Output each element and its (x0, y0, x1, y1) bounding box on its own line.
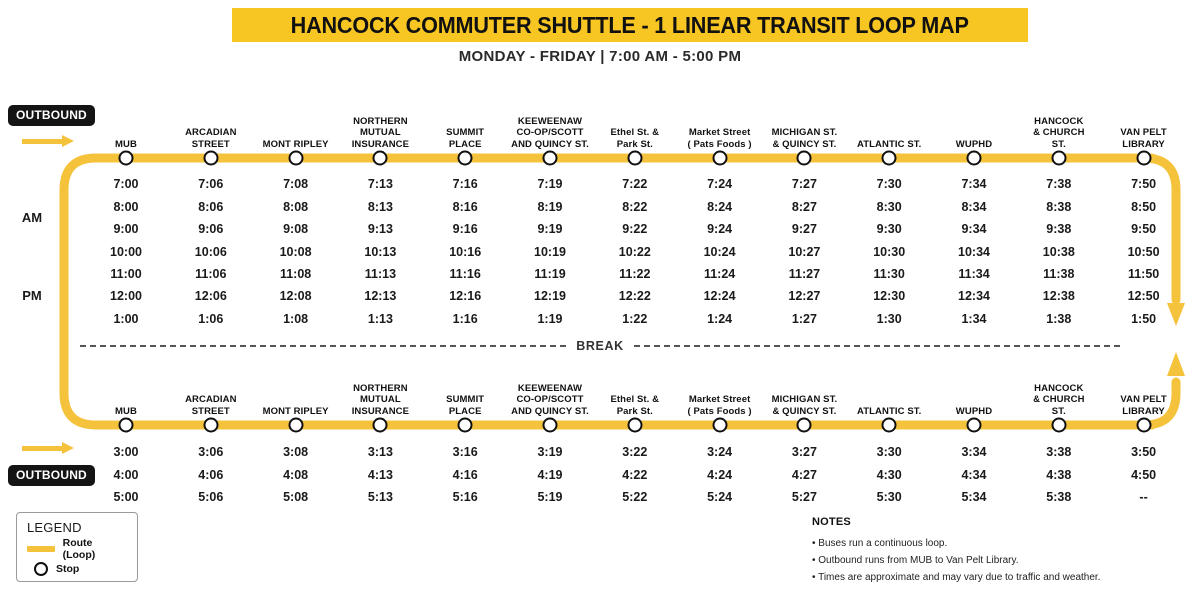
service-hours-subtitle: MONDAY - FRIDAY | 7:00 AM - 5:00 PM (0, 48, 1200, 65)
schedule-time-cell: 11:34 (958, 267, 989, 281)
schedule-time-cell: 5:06 (198, 490, 223, 504)
schedule-time-cell: 10:50 (1128, 245, 1160, 259)
schedule-time-cell: 9:13 (368, 222, 393, 236)
stop-marker[interactable] (1136, 418, 1151, 433)
schedule-time-cell: 8:38 (1046, 200, 1071, 214)
schedule-time-cell: 3:13 (368, 445, 393, 459)
schedule-time-cell: 7:27 (792, 177, 817, 191)
schedule-time-cell: 7:30 (877, 177, 902, 191)
break-line-left (80, 345, 566, 347)
schedule-time-cell: 5:08 (283, 490, 308, 504)
schedule-time-cell: 12:38 (1043, 289, 1075, 303)
schedule-time-cell: 1:38 (1046, 312, 1071, 326)
arrow-right-icon-bottom (22, 443, 76, 453)
schedule-time-cell: 7:13 (368, 177, 393, 191)
schedule-time-cell: 12:27 (788, 289, 820, 303)
schedule-time-cell: 8:16 (453, 200, 478, 214)
stop-marker[interactable] (967, 151, 982, 166)
stop-marker[interactable] (119, 418, 134, 433)
schedule-time-cell: 1:50 (1131, 312, 1156, 326)
schedule-time-cell: 3:34 (961, 445, 986, 459)
stop-marker[interactable] (712, 151, 727, 166)
schedule-time-cell: 12:24 (704, 289, 736, 303)
schedule-time-cell: 5:22 (622, 490, 647, 504)
schedule-time-cell: 8:27 (792, 200, 817, 214)
schedule-time-cell: 10:13 (364, 245, 396, 259)
schedule-time-cell: 9:08 (283, 222, 308, 236)
schedule-time-cell: 5:13 (368, 490, 393, 504)
notes-block: NOTES • Buses run a continuous loop.• Ou… (812, 516, 1192, 586)
schedule-time-cell: 12:34 (958, 289, 990, 303)
schedule-time-cell: 9:50 (1131, 222, 1156, 236)
schedule-time-cell: 9:22 (622, 222, 647, 236)
schedule-time-cell: 5:16 (453, 490, 478, 504)
schedule-time-cell: 8:08 (283, 200, 308, 214)
stop-marker[interactable] (543, 418, 558, 433)
schedule-time-cell: 11:22 (619, 267, 650, 281)
route-loop-graphic (0, 0, 1200, 600)
stop-marker[interactable] (203, 151, 218, 166)
stop-marker[interactable] (1051, 151, 1066, 166)
schedule-time-cell: 3:00 (113, 445, 138, 459)
stop-marker[interactable] (203, 418, 218, 433)
schedule-time-cell: 11:16 (450, 267, 481, 281)
shuttle-map-page: HANCOCK COMMUTER SHUTTLE - 1 LINEAR TRAN… (0, 0, 1200, 600)
stop-marker[interactable] (967, 418, 982, 433)
schedule-time-cell: 1:13 (368, 312, 393, 326)
stop-circle-icon (34, 562, 48, 576)
schedule-time-cell: 9:19 (537, 222, 562, 236)
schedule-time-cell: 9:00 (113, 222, 138, 236)
schedule-time-cell: 8:50 (1131, 200, 1156, 214)
schedule-time-cell: 9:30 (877, 222, 902, 236)
schedule-time-cell: 4:24 (707, 468, 732, 482)
stop-marker[interactable] (797, 151, 812, 166)
schedule-time-cell: 10:38 (1043, 245, 1075, 259)
schedule-time-cell: 7:38 (1046, 177, 1071, 191)
schedule-time-cell: 9:38 (1046, 222, 1071, 236)
schedule-time-cell: 11:38 (1043, 267, 1074, 281)
legend-box: LEGEND Route (Loop) Stop (16, 512, 138, 582)
schedule-time-cell: 1:00 (113, 312, 138, 326)
legend-stop-label: Stop (56, 563, 79, 575)
schedule-time-cell: 5:24 (707, 490, 732, 504)
schedule-time-cell: 9:24 (707, 222, 732, 236)
schedule-time-cell: 4:13 (368, 468, 393, 482)
schedule-time-cell: 3:50 (1131, 445, 1156, 459)
schedule-time-cell: 5:34 (961, 490, 986, 504)
schedule-time-cell: 4:00 (113, 468, 138, 482)
schedule-time-cell: 12:13 (364, 289, 396, 303)
schedule-time-cell: 3:16 (453, 445, 478, 459)
schedule-time-cell: 5:00 (113, 490, 138, 504)
schedule-time-cell: 3:06 (198, 445, 223, 459)
schedule-time-cell: 5:19 (537, 490, 562, 504)
stop-column: VAN PELT LIBRARY (1094, 394, 1194, 417)
schedule-time-cell: 1:19 (537, 312, 562, 326)
schedule-time-cell: 10:34 (958, 245, 990, 259)
schedule-time-cell: 4:22 (622, 468, 647, 482)
notes-title: NOTES (812, 516, 1192, 528)
schedule-time-cell: 3:27 (792, 445, 817, 459)
legend-row-route: Route (Loop) (27, 542, 127, 556)
page-title: HANCOCK COMMUTER SHUTTLE - 1 LINEAR TRAN… (291, 12, 969, 39)
schedule-time-cell: 8:30 (877, 200, 902, 214)
stop-marker[interactable] (373, 418, 388, 433)
schedule-time-cell: 7:06 (198, 177, 223, 191)
schedule-time-cell: 11:00 (110, 267, 141, 281)
schedule-time-cell: 8:34 (961, 200, 986, 214)
schedule-time-cell: 11:13 (365, 267, 396, 281)
arrow-right-icon-top (22, 136, 76, 146)
schedule-time-cell: 5:27 (792, 490, 817, 504)
schedule-time-cell: 11:06 (195, 267, 226, 281)
schedule-time-cell: 7:34 (961, 177, 986, 191)
schedule-time-cell: 10:00 (110, 245, 142, 259)
schedule-time-cell: 7:08 (283, 177, 308, 191)
outbound-badge-bottom: OUTBOUND (8, 465, 95, 486)
stop-marker[interactable] (543, 151, 558, 166)
schedule-time-cell: 1:06 (198, 312, 223, 326)
schedule-time-cell: 9:16 (453, 222, 478, 236)
schedule-time-cell: 12:19 (534, 289, 566, 303)
stop-marker[interactable] (458, 151, 473, 166)
schedule-time-cell: 4:19 (537, 468, 562, 482)
schedule-time-cell: 9:06 (198, 222, 223, 236)
schedule-time-cell: 9:34 (961, 222, 986, 236)
schedule-time-cell: 1:16 (453, 312, 478, 326)
schedule-time-cell: 7:50 (1131, 177, 1156, 191)
schedule-time-cell: 12:00 (110, 289, 142, 303)
schedule-time-cell: 4:06 (198, 468, 223, 482)
break-line-right (634, 345, 1120, 347)
schedule-time-cell: 1:30 (877, 312, 902, 326)
stop-marker[interactable] (882, 151, 897, 166)
schedule-time-cell: 1:34 (961, 312, 986, 326)
legend-title: LEGEND (27, 520, 127, 535)
schedule-time-cell: 10:30 (873, 245, 905, 259)
stop-marker[interactable] (119, 151, 134, 166)
schedule-time-cell: 12:06 (195, 289, 227, 303)
note-item: • Times are approximate and may vary due… (812, 569, 1192, 586)
stop-marker[interactable] (458, 418, 473, 433)
schedule-time-cell: 9:27 (792, 222, 817, 236)
note-item: • Buses run a continuous loop. (812, 535, 1192, 552)
stop-marker[interactable] (373, 151, 388, 166)
legend-route-label: Route (Loop) (63, 537, 127, 561)
schedule-time-cell: 8:19 (537, 200, 562, 214)
stop-column: VAN PELT LIBRARY (1094, 127, 1194, 150)
schedule-time-cell: 4:30 (877, 468, 902, 482)
schedule-time-cell: 4:38 (1046, 468, 1071, 482)
schedule-time-cell: 10:24 (704, 245, 736, 259)
stop-marker[interactable] (882, 418, 897, 433)
stop-marker[interactable] (1051, 418, 1066, 433)
schedule-time-cell: 11:24 (704, 267, 735, 281)
schedule-time-cell: 4:16 (453, 468, 478, 482)
schedule-time-cell: 4:08 (283, 468, 308, 482)
schedule-time-cell: 7:00 (113, 177, 138, 191)
schedule-time-cell: 1:27 (792, 312, 817, 326)
schedule-time-cell: 8:00 (113, 200, 138, 214)
period-label-am: AM (22, 210, 42, 225)
schedule-time-cell: 11:19 (534, 267, 565, 281)
schedule-time-cell: 11:50 (1128, 267, 1159, 281)
stop-marker[interactable] (288, 418, 303, 433)
schedule-time-cell: 7:19 (537, 177, 562, 191)
schedule-time-cell: 8:06 (198, 200, 223, 214)
schedule-time-cell: 3:22 (622, 445, 647, 459)
schedule-time-cell: 4:50 (1131, 468, 1156, 482)
schedule-time-cell: 8:24 (707, 200, 732, 214)
schedule-time-cell: 5:38 (1046, 490, 1071, 504)
notes-list: • Buses run a continuous loop.• Outbound… (812, 535, 1192, 586)
schedule-time-cell: 7:16 (453, 177, 478, 191)
schedule-time-cell: 12:16 (449, 289, 481, 303)
stop-marker[interactable] (627, 151, 642, 166)
schedule-time-cell: -- (1139, 490, 1147, 504)
schedule-time-cell: 3:38 (1046, 445, 1071, 459)
schedule-time-cell: 3:24 (707, 445, 732, 459)
stop-marker[interactable] (797, 418, 812, 433)
break-label: BREAK (576, 339, 623, 353)
stop-marker[interactable] (627, 418, 642, 433)
outbound-badge-top: OUTBOUND (8, 105, 95, 126)
schedule-time-cell: 10:06 (195, 245, 227, 259)
stop-name-label: VAN PELT LIBRARY (1094, 127, 1194, 150)
schedule-time-cell: 10:22 (619, 245, 651, 259)
schedule-time-cell: 11:08 (280, 267, 311, 281)
schedule-time-cell: 7:22 (622, 177, 647, 191)
title-banner: HANCOCK COMMUTER SHUTTLE - 1 LINEAR TRAN… (232, 8, 1028, 42)
stop-marker[interactable] (712, 418, 727, 433)
schedule-time-cell: 4:27 (792, 468, 817, 482)
schedule-time-cell: 5:30 (877, 490, 902, 504)
schedule-time-cell: 12:22 (619, 289, 651, 303)
schedule-time-cell: 4:34 (961, 468, 986, 482)
schedule-time-cell: 7:24 (707, 177, 732, 191)
schedule-time-cell: 12:30 (873, 289, 905, 303)
schedule-time-cell: 11:27 (789, 267, 820, 281)
schedule-time-cell: 3:30 (877, 445, 902, 459)
schedule-time-cell: 10:08 (280, 245, 312, 259)
break-divider: BREAK (80, 338, 1120, 354)
schedule-time-cell: 3:19 (537, 445, 562, 459)
schedule-time-cell: 11:30 (874, 267, 905, 281)
schedule-time-cell: 8:13 (368, 200, 393, 214)
schedule-time-cell: 12:50 (1128, 289, 1160, 303)
stop-marker[interactable] (1136, 151, 1151, 166)
route-swatch-icon (27, 546, 55, 552)
note-item: • Outbound runs from MUB to Van Pelt Lib… (812, 552, 1192, 569)
schedule-time-cell: 1:08 (283, 312, 308, 326)
schedule-time-cell: 8:22 (622, 200, 647, 214)
schedule-time-cell: 1:22 (622, 312, 647, 326)
schedule-time-cell: 12:08 (280, 289, 312, 303)
schedule-time-cell: 3:08 (283, 445, 308, 459)
schedule-time-cell: 10:19 (534, 245, 566, 259)
schedule-time-cell: 10:27 (788, 245, 820, 259)
stop-marker[interactable] (288, 151, 303, 166)
schedule-time-cell: 1:24 (707, 312, 732, 326)
schedule-time-cell: 10:16 (449, 245, 481, 259)
legend-row-stop: Stop (27, 562, 127, 576)
stop-name-label: VAN PELT LIBRARY (1094, 394, 1194, 417)
period-label-pm: PM (22, 288, 42, 303)
